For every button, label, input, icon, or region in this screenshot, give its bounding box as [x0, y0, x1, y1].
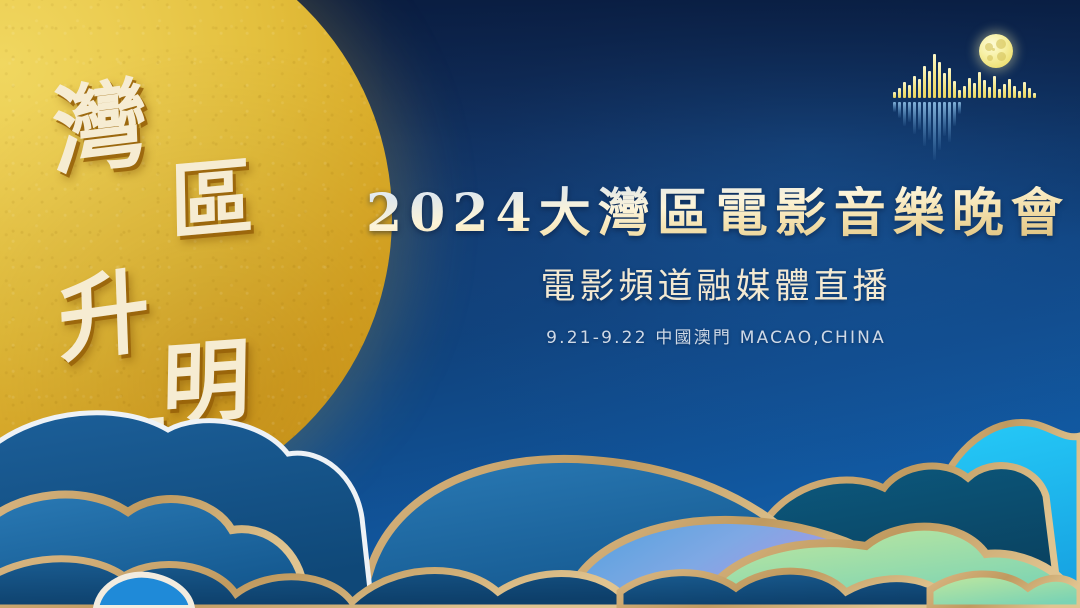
waveform-bar-up [1013, 86, 1016, 98]
waveform-bar-up [908, 85, 911, 98]
waveform-bar-up [953, 81, 956, 98]
waveform-bar-up [948, 68, 951, 98]
waveform-bar-up [898, 88, 901, 98]
waveform-bar-reflection [933, 102, 936, 160]
headline-block: 2024大灣區電影音樂晚會 電影頻道融媒體直播 9.21-9.22 中國澳門 M… [366, 186, 1066, 348]
waveform-bar-up [1003, 84, 1006, 98]
date-location-line: 9.21-9.22 中國澳門 MACAO,CHINA [366, 323, 1066, 348]
waveform-bar-up [998, 89, 1001, 98]
waveform-bar-reflection [948, 102, 951, 142]
waveform-bar-reflection [903, 102, 906, 126]
waveform-bar-reflection [928, 102, 931, 140]
waveform-bar-up [978, 72, 981, 98]
page-title: 2024大灣區電影音樂晚會 [366, 186, 1066, 242]
waveform-bar-up [928, 71, 931, 98]
waveform-bar-up [1033, 93, 1036, 98]
waveform-bar-up [918, 79, 921, 98]
waveform-bar-up [913, 76, 916, 98]
waveform-bar-up [893, 92, 896, 98]
audio-waveform-icon [893, 56, 1041, 152]
waveform-bar-reflection [923, 102, 926, 146]
waveform-bar-reflection [908, 102, 911, 122]
waveform-bar-reflection [918, 102, 921, 130]
waveform-bar-up [1028, 88, 1031, 98]
waveform-bar-up [973, 83, 976, 98]
waveform-bar-up [923, 66, 926, 98]
waveform-bar-reflection [898, 102, 901, 118]
waveform-bar-up [968, 78, 971, 98]
waveform-bar-up [963, 86, 966, 98]
waveform-bar-reflection [943, 102, 946, 136]
waveform-moon-logo [893, 34, 1041, 152]
subtitle: 電影頻道融媒體直播 [366, 258, 1066, 309]
waveform-bar-reflection [958, 102, 961, 114]
waveform-bar-up [1023, 82, 1026, 98]
waveform-bar-reflection [893, 102, 896, 112]
waveform-bar-up [958, 90, 961, 98]
waveform-bar-reflection [938, 102, 941, 150]
waveform-bar-reflection [913, 102, 916, 134]
waveform-bar-up [988, 87, 991, 98]
waveform-bar-up [993, 76, 996, 98]
poster-canvas: 灣 區 升 明 月 [0, 0, 1080, 608]
waveform-bar-up [903, 82, 906, 98]
waveform-bar-reflection [953, 102, 956, 126]
waveform-bar-up [1008, 79, 1011, 98]
waveform-bar-up [1018, 91, 1021, 98]
waveform-bar-up [983, 80, 986, 98]
waveform-bar-up [938, 62, 941, 98]
waveform-bar-up [933, 54, 936, 98]
auspicious-cloud-mountains [0, 378, 1080, 608]
waveform-bar-up [943, 73, 946, 98]
